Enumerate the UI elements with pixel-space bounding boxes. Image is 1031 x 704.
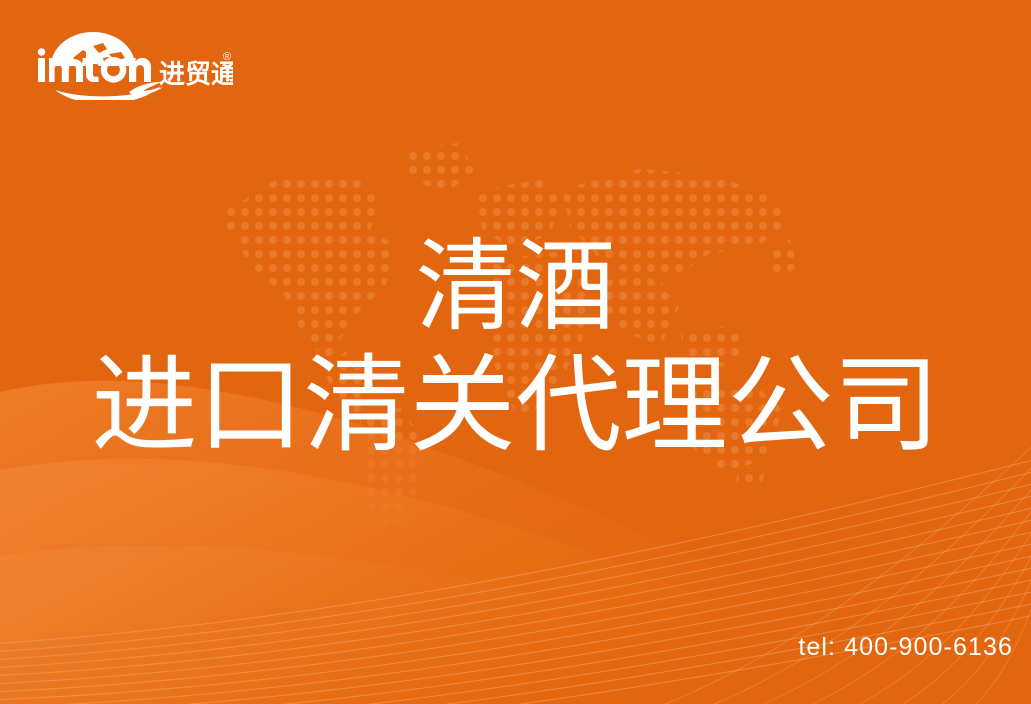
curved-line-sweep [0,430,1031,704]
brand-chinese-text: 进贸通 [159,59,233,89]
swoosh-bird-icon [55,82,163,100]
headline-line-2: 进口清关代理公司 [0,346,1031,466]
headline-line-1: 清酒 [0,228,1031,346]
brand-logo-artwork: 进贸通 ® [33,28,233,100]
headline-block: 清酒 进口清关代理公司 [0,228,1031,466]
brand-logo[interactable]: 进贸通 ® [33,28,233,100]
contact-phone[interactable]: tel: 400-900-6136 [798,632,1013,662]
brand-wordmark-chinese: 进贸通 ® [159,51,233,89]
trademark-symbol: ® [223,51,231,63]
promo-banner: 进贸通 ® 清酒 进口清关代理公司 tel: 400-900-6136 [0,0,1031,704]
